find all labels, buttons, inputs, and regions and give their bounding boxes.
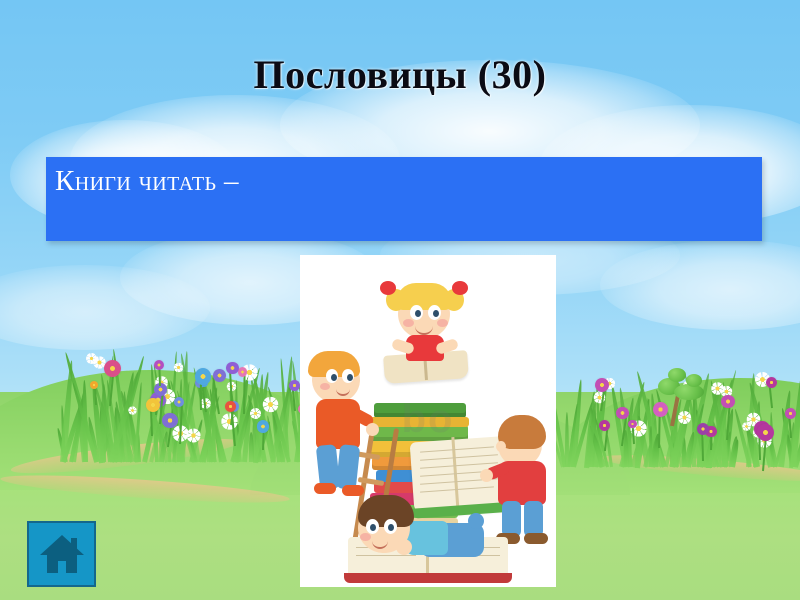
book-darkgreen xyxy=(374,403,466,418)
boy-lying-pupil-left xyxy=(370,524,376,531)
tree-foliage xyxy=(686,374,702,387)
boy-ladder-cheek xyxy=(320,383,330,390)
girl-bow-right xyxy=(452,281,468,295)
home-icon xyxy=(38,529,86,577)
girl-pupil-right xyxy=(433,310,439,317)
boy-right-hand xyxy=(480,469,493,482)
boy-ladder-pupil-left xyxy=(331,374,337,381)
girl-cheek-right xyxy=(437,319,448,327)
boy-ladder-shoe-left xyxy=(314,483,336,494)
answer-banner: Книги читать – xyxy=(46,157,762,241)
tree-shape xyxy=(648,368,710,426)
slide-canvas: Пословицы (30) Книги читать – xyxy=(0,0,800,600)
boy-lying-cheek xyxy=(360,533,371,541)
boy-right-shoe-right xyxy=(524,533,548,544)
open-book-bottom-cover xyxy=(344,573,512,583)
boy-right-leg-right xyxy=(524,501,543,537)
boy-ladder-shoe-right xyxy=(342,485,364,496)
boy-right-leg-left xyxy=(502,501,521,537)
tree-foliage xyxy=(674,384,704,400)
boy-right-ear xyxy=(496,441,506,452)
book-text-line xyxy=(356,555,416,556)
illustration-card: bo xyxy=(300,255,556,587)
tree-foliage xyxy=(668,368,686,382)
boy-ladder-pupil-right xyxy=(347,374,353,381)
boy-ladder-hand xyxy=(366,423,379,436)
boy-lying-foot xyxy=(468,513,484,529)
boy-ladder-leg-right xyxy=(336,444,360,490)
girl-bow-left xyxy=(380,281,396,295)
illustration-artwork: bo xyxy=(300,255,556,587)
girl-pupil-left xyxy=(415,310,421,317)
answer-text: Книги читать – xyxy=(55,165,239,198)
home-button[interactable] xyxy=(27,521,96,587)
boy-lying-pupil-right xyxy=(388,524,394,531)
girl-cheek-left xyxy=(403,319,414,327)
book-gold xyxy=(370,417,469,427)
boy-lying-hand xyxy=(396,539,412,555)
page-title: Пословицы (30) xyxy=(0,51,800,98)
